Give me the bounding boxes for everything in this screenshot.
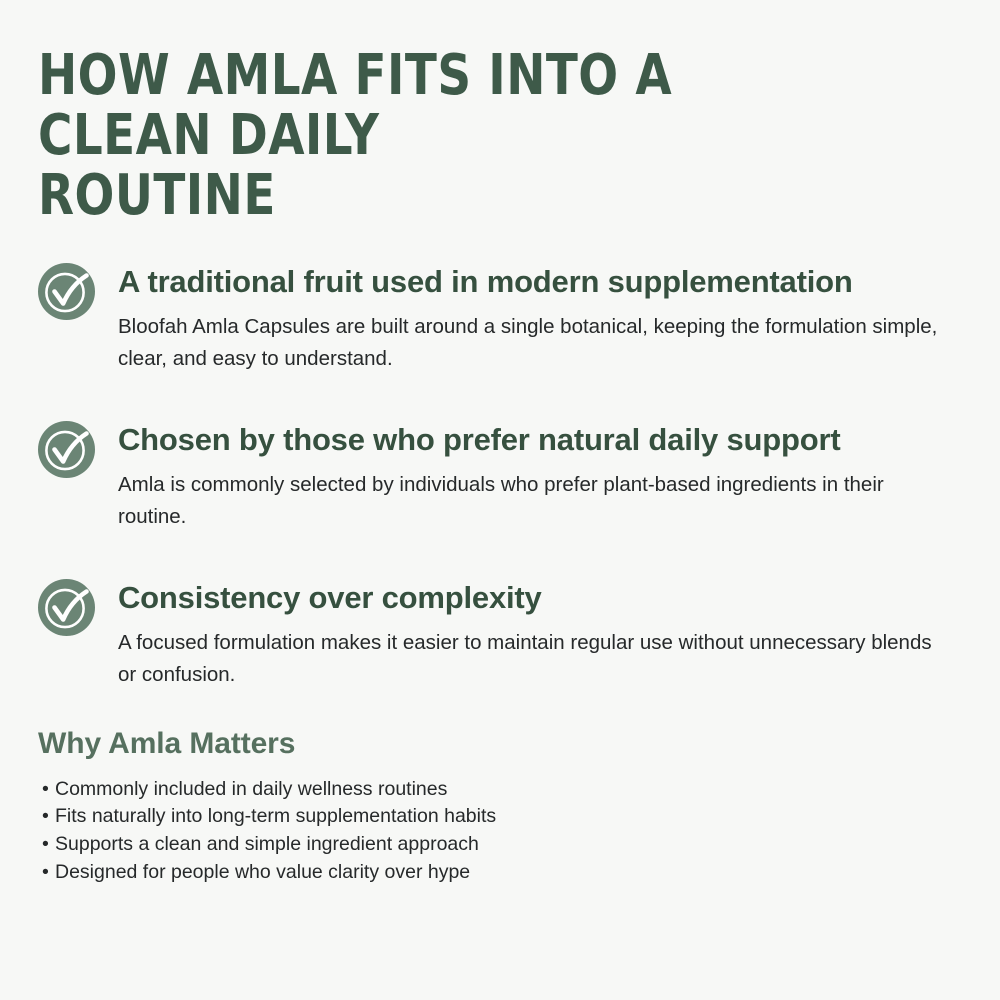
why-amla-matters-section: Why Amla Matters • Commonly included in … [38,726,962,887]
feature-heading: Consistency over complexity [118,578,888,618]
feature-body: Chosen by those who prefer natural daily… [118,418,962,532]
list-item: • Commonly included in daily wellness ro… [42,776,962,804]
list-item-label: Supports a clean and simple ingredient a… [55,831,479,859]
section-heading: Why Amla Matters [38,726,962,762]
benefits-list: • Commonly included in daily wellness ro… [38,776,962,887]
bullet-icon: • [42,831,55,859]
bullet-icon: • [42,776,55,804]
bullet-icon: • [42,859,55,887]
feature-description: A focused formulation makes it easier to… [118,627,948,689]
infographic-page: HOW AMLA FITS INTO A CLEAN DAILY ROUTINE… [0,0,1000,1000]
feature-description: Bloofah Amla Capsules are built around a… [118,311,948,373]
feature-heading: Chosen by those who prefer natural daily… [118,420,888,460]
check-circle-icon [38,263,95,320]
check-circle-icon [38,579,95,636]
feature-description: Amla is commonly selected by individuals… [118,469,948,531]
feature-body: A traditional fruit used in modern suppl… [118,260,962,374]
list-item: • Designed for people who value clarity … [42,859,962,887]
feature-heading: A traditional fruit used in modern suppl… [118,262,888,302]
feature-item: Consistency over complexity A focused fo… [38,576,962,690]
list-item: • Supports a clean and simple ingredient… [42,831,962,859]
list-item-label: Commonly included in daily wellness rout… [55,776,447,804]
feature-body: Consistency over complexity A focused fo… [118,576,962,690]
list-item-label: Fits naturally into long-term supplement… [55,803,496,831]
check-circle-icon [38,421,95,478]
bullet-icon: • [42,803,55,831]
list-item: • Fits naturally into long-term suppleme… [42,803,962,831]
page-title: HOW AMLA FITS INTO A CLEAN DAILY ROUTINE [38,46,856,226]
feature-item: Chosen by those who prefer natural daily… [38,418,962,532]
feature-item: A traditional fruit used in modern suppl… [38,260,962,374]
list-item-label: Designed for people who value clarity ov… [55,859,470,887]
